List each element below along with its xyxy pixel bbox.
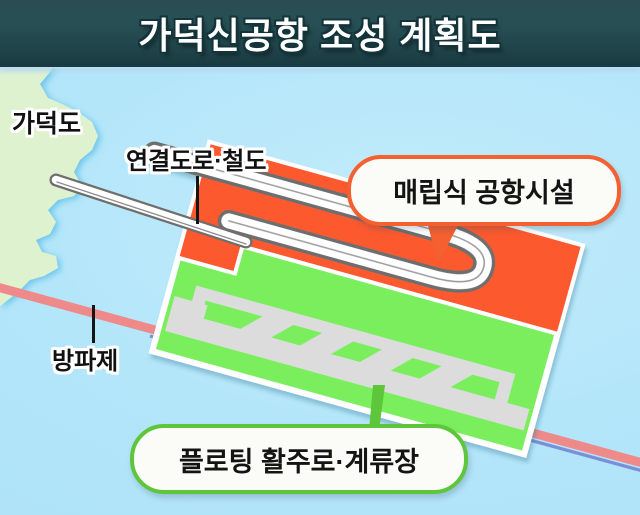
leader-line-breakwater bbox=[92, 305, 95, 343]
callout-floating-runway-apron[interactable]: 플로팅 활주로·계류장 bbox=[130, 424, 468, 494]
callout-landfill-label: 매립식 공항시설 bbox=[393, 171, 574, 210]
title-bar: 가덕신공항 조성 계획도 bbox=[0, 0, 640, 67]
map-label-breakwater: 방파제 bbox=[52, 341, 118, 376]
callout-landfill-airport-facility[interactable]: 매립식 공항시설 bbox=[347, 155, 621, 226]
leader-line-road-rail bbox=[196, 176, 199, 224]
gadeok-island-landmass bbox=[0, 46, 98, 306]
map-label-road-rail: 연결도로·철도 bbox=[126, 141, 266, 176]
map-label-gadeokdo: 가덕도 bbox=[12, 104, 81, 140]
infographic-canvas: 가덕신공항 조성 계획도 가덕도 연결도로·철도 방파제 매립식 공항시설 플로… bbox=[0, 0, 640, 515]
callout-floating-label: 플로팅 활주로·계류장 bbox=[179, 440, 419, 479]
page-title: 가덕신공항 조성 계획도 bbox=[0, 7, 640, 59]
